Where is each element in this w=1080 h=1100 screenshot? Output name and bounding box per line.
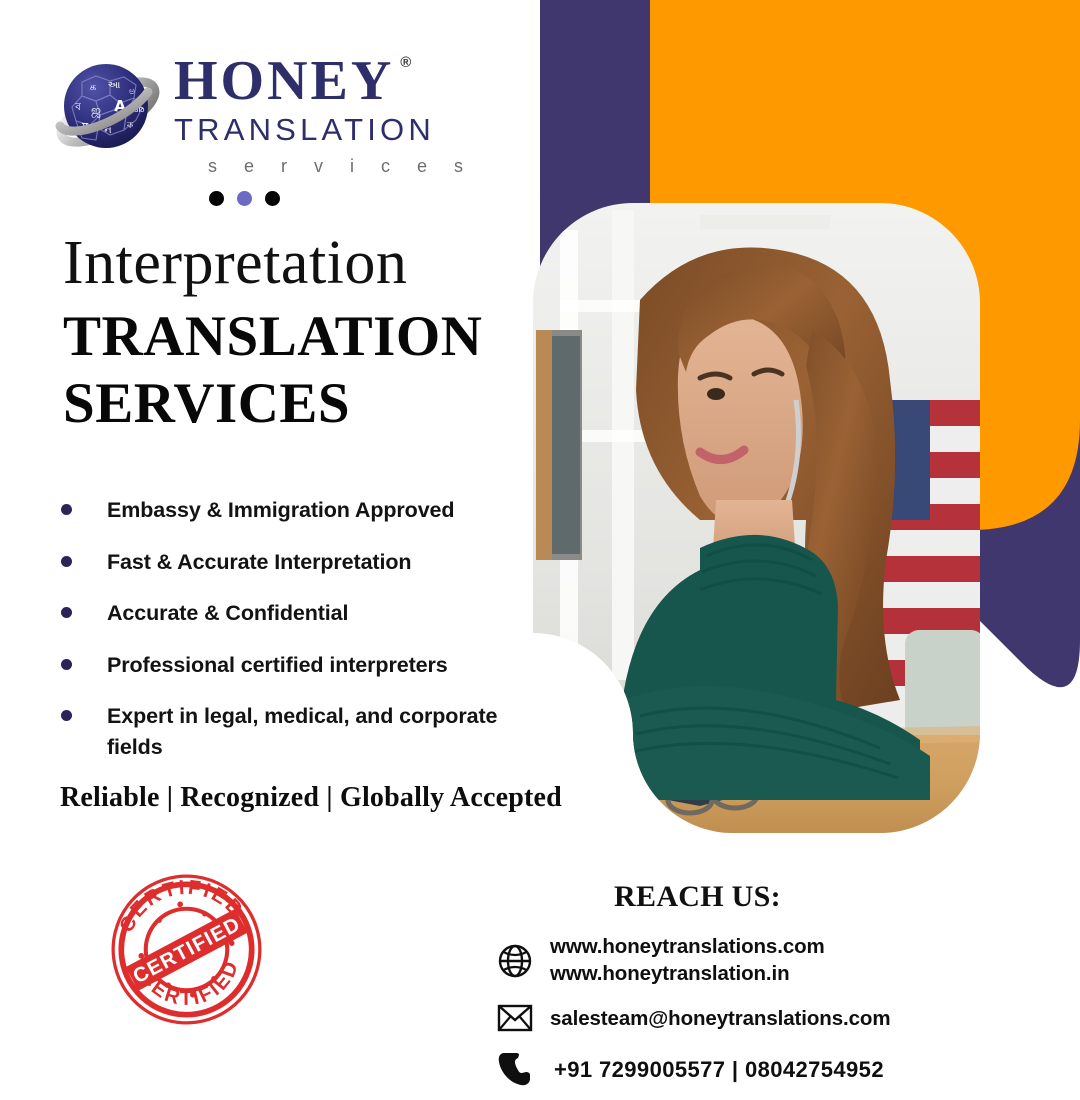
registered-mark-icon: ® <box>400 56 414 71</box>
logo-brand-bottom: s e r v i c e s <box>174 156 474 177</box>
website-line-1: www.honeytranslations.com <box>550 935 825 958</box>
svg-text:ক: ক <box>126 121 134 131</box>
decor-dot-3 <box>265 191 280 206</box>
svg-text:ஜ: ஜ <box>91 103 101 118</box>
list-item-label: Fast & Accurate Interpretation <box>107 547 411 578</box>
list-item: Professional certified interpreters <box>55 650 525 681</box>
logo-wordmark: HONEY ® TRANSLATION s e r v i c e s <box>174 48 474 177</box>
logo-brand-middle: TRANSLATION <box>174 111 474 150</box>
headline-main: TRANSLATION SERVICES <box>63 304 482 437</box>
decor-dot-2 <box>237 191 252 206</box>
headline-block: Interpretation TRANSLATION SERVICES <box>63 232 482 437</box>
certified-stamp-icon: CERTIFIED CERTIFIED CERTIFIED <box>105 868 268 1031</box>
bullet-icon <box>61 710 72 721</box>
svg-text:க: க <box>90 82 96 93</box>
svg-text:આ: આ <box>108 80 121 91</box>
headline-line-1: TRANSLATION <box>63 304 482 371</box>
contact-rows: www.honeytranslations.com www.honeytrans… <box>470 934 1070 1089</box>
contact-title: REACH US: <box>470 880 925 914</box>
feature-list: Embassy & Immigration Approved Fast & Ac… <box>55 495 525 783</box>
contact-row-website[interactable]: www.honeytranslations.com www.honeytrans… <box>493 934 1070 987</box>
headline-line-2: SERVICES <box>63 371 482 438</box>
brand-logo[interactable]: க આ ಅ ব ஜ A അ ग ન ক HONEY ® TRANSLATION … <box>52 48 474 177</box>
logo-brand-top: HONEY ® <box>174 54 394 109</box>
headline-script: Interpretation <box>63 232 482 294</box>
list-item: Embassy & Immigration Approved <box>55 495 525 526</box>
phone-icon <box>493 1049 537 1089</box>
envelope-icon <box>493 998 537 1038</box>
list-item-label: Professional certified interpreters <box>107 650 448 681</box>
svg-text:ಅ: ಅ <box>129 87 135 97</box>
poster-canvas: க આ ಅ ব ஜ A അ ग ન ক HONEY ® TRANSLATION … <box>0 0 1080 1080</box>
logo-brand-top-text: HONEY <box>174 50 394 112</box>
contact-email-text: salesteam@honeytranslations.com <box>550 1005 890 1032</box>
decor-dots <box>209 191 280 206</box>
list-item: Accurate & Confidential <box>55 598 525 629</box>
contact-website-text: www.honeytranslations.com www.honeytrans… <box>550 934 825 987</box>
website-line-2: www.honeytranslation.in <box>550 962 790 985</box>
tagline: Reliable | Recognized | Globally Accepte… <box>60 782 562 814</box>
interpreter-photo <box>533 203 1000 833</box>
globe-icon <box>493 941 537 981</box>
globe-languages-icon: க આ ಅ ব ஜ A അ ग ન ক <box>52 54 164 166</box>
bullet-icon <box>61 504 72 515</box>
contact-row-phone[interactable]: +91 7299005577 | 08042754952 <box>493 1049 1070 1089</box>
bullet-icon <box>61 607 72 618</box>
list-item-label: Embassy & Immigration Approved <box>107 495 454 526</box>
list-item-label: Expert in legal, medical, and corporate … <box>107 701 525 762</box>
list-item-label: Accurate & Confidential <box>107 598 348 629</box>
list-item: Expert in legal, medical, and corporate … <box>55 701 525 762</box>
decor-dot-1 <box>209 191 224 206</box>
bullet-icon <box>61 659 72 670</box>
bullet-icon <box>61 556 72 567</box>
list-item: Fast & Accurate Interpretation <box>55 547 525 578</box>
contact-row-email[interactable]: salesteam@honeytranslations.com <box>493 998 1070 1038</box>
svg-text:ব: ব <box>74 102 81 113</box>
contact-panel: REACH US: www.honeytranslations.com www.… <box>470 880 1070 1100</box>
